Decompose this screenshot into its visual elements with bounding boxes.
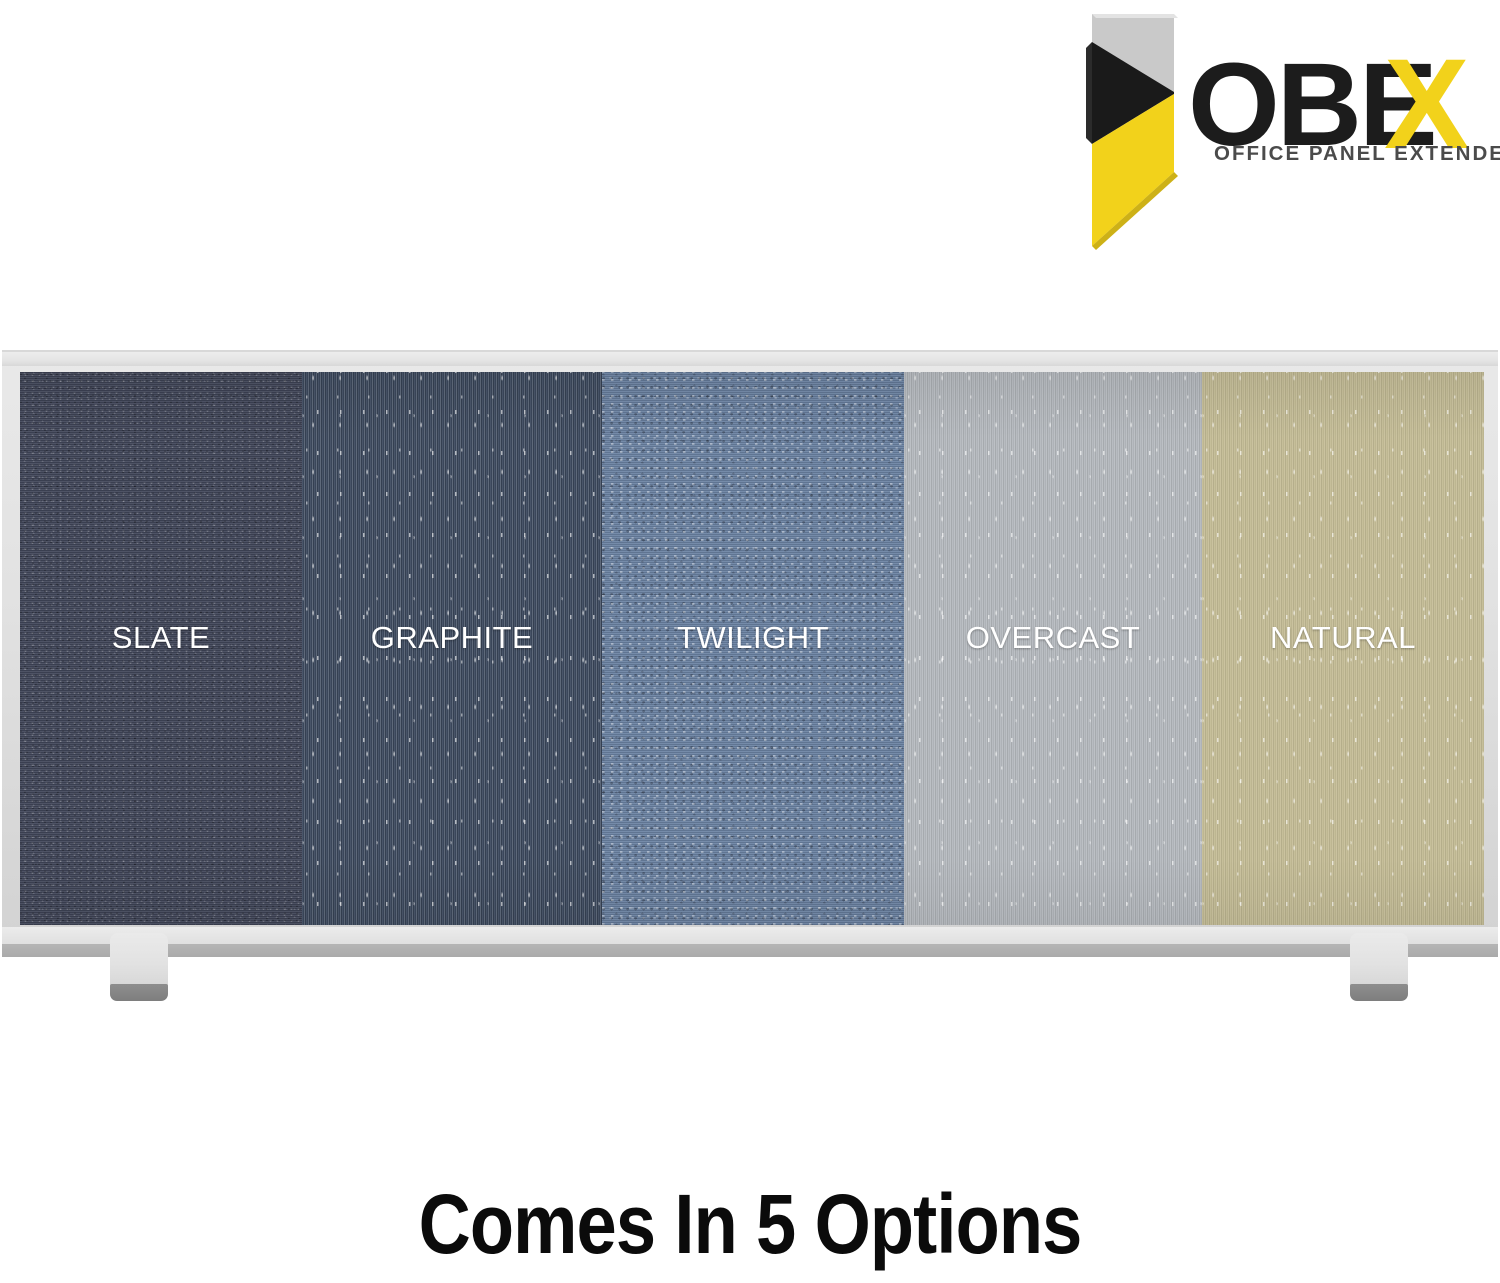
caption-text: Comes In 5 Options (105, 1176, 1395, 1273)
swatch-slate[interactable]: SLATE (20, 372, 302, 925)
brand-logo: OBE X OFFICE PANEL EXTENDERS (1070, 8, 1470, 253)
privacy-panel-product: SLATE GRAPHITE TWILIGHT OVERCAST NATURAL (2, 350, 1498, 955)
swatch-twilight[interactable]: TWILIGHT (602, 372, 904, 925)
swatch-natural[interactable]: NATURAL (1202, 372, 1484, 925)
mounting-bracket-left (110, 933, 168, 1001)
bracket-foot (110, 984, 168, 1001)
swatch-label-natural: NATURAL (1202, 620, 1484, 656)
obex-chevron-logo-icon (1070, 8, 1190, 253)
panel-frame-bottom-shadow (2, 944, 1498, 957)
swatch-label-graphite: GRAPHITE (302, 620, 602, 656)
swatch-overcast[interactable]: OVERCAST (904, 372, 1202, 925)
obex-wordmark: OBE X OFFICE PANEL EXTENDERS (1188, 46, 1478, 206)
swatch-graphite[interactable]: GRAPHITE (302, 372, 602, 925)
logo-tagline: OFFICE PANEL EXTENDERS (1214, 142, 1500, 166)
bracket-body (110, 933, 168, 989)
bracket-foot (1350, 984, 1408, 1001)
panel-frame-top-rail (2, 352, 1498, 366)
swatch-label-twilight: TWILIGHT (602, 620, 904, 656)
panel-frame-bottom-rail (2, 927, 1498, 945)
fabric-swatch-strip: SLATE GRAPHITE TWILIGHT OVERCAST NATURAL (20, 372, 1484, 925)
swatch-label-slate: SLATE (20, 620, 302, 656)
swatch-label-overcast: OVERCAST (904, 620, 1202, 656)
mounting-bracket-right (1350, 933, 1408, 1001)
bracket-body (1350, 933, 1408, 989)
